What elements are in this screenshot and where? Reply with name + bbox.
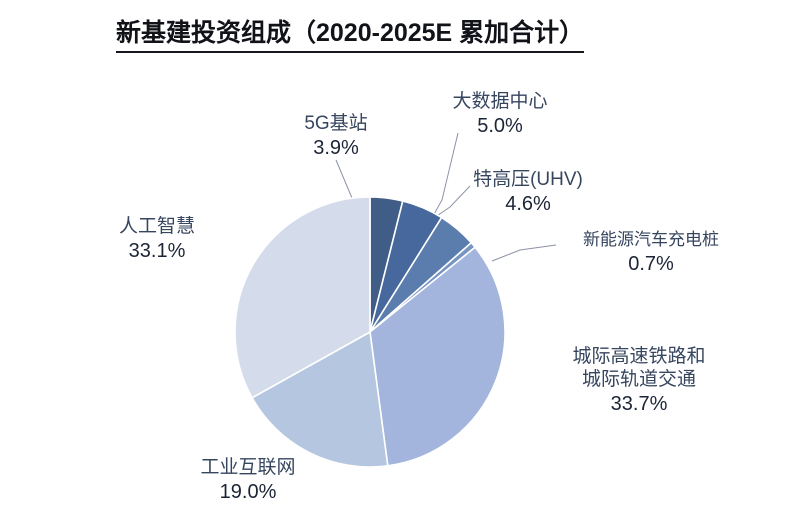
leader-line-ev — [492, 245, 556, 261]
slice-label-rail: 城际高速铁路和 城际轨道交通 33.7% — [534, 345, 744, 417]
pie-slices — [235, 197, 505, 467]
slice-label-uhv: 特高压(UHV) 4.6% — [448, 168, 608, 217]
slice-label-5g-value: 3.9% — [276, 136, 396, 160]
pie-chart-figure: 新基建投资组成（2020-2025E 累加合计） 5G基站 3.9% 大数据中心… — [0, 0, 800, 530]
slice-label-iiot-name: 工业互联网 — [168, 456, 328, 479]
slice-label-rail-name-line1: 城际高速铁路和 — [534, 345, 744, 368]
slice-label-5g-name: 5G基站 — [276, 112, 396, 135]
slice-label-ev-name: 新能源汽车充电桩 — [556, 230, 746, 251]
slice-label-5g: 5G基站 3.9% — [276, 112, 396, 161]
slice-label-bigdata-value: 5.0% — [430, 114, 570, 138]
slice-label-uhv-name: 特高压(UHV) — [448, 168, 608, 191]
slice-label-iiot: 工业互联网 19.0% — [168, 456, 328, 505]
slice-label-ev-value: 0.7% — [556, 252, 746, 276]
slice-label-uhv-value: 4.6% — [448, 192, 608, 216]
slice-label-ai-name: 人工智慧 — [92, 215, 222, 238]
leader-line-5g — [336, 160, 360, 203]
slice-label-iiot-value: 19.0% — [168, 480, 328, 504]
slice-label-ev: 新能源汽车充电桩 0.7% — [556, 230, 746, 276]
slice-label-rail-value: 33.7% — [534, 392, 744, 416]
slice-label-bigdata-name: 大数据中心 — [430, 90, 570, 113]
slice-label-bigdata: 大数据中心 5.0% — [430, 90, 570, 139]
slice-label-rail-name-line2: 城际轨道交通 — [534, 368, 744, 391]
slice-label-ai: 人工智慧 33.1% — [92, 215, 222, 264]
slice-label-ai-value: 33.1% — [92, 239, 222, 263]
